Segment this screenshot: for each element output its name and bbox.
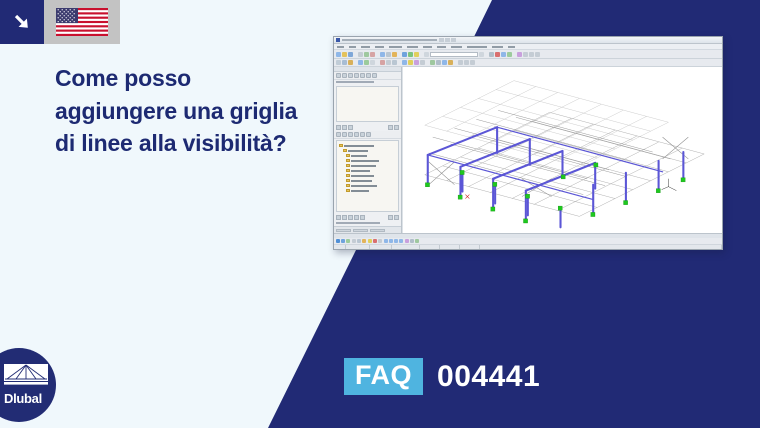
- loadcase-select[interactable]: [430, 52, 478, 57]
- model-canvas[interactable]: [402, 67, 722, 233]
- table-header-row: [334, 245, 722, 250]
- toolbar-undo-icon[interactable]: [364, 52, 369, 57]
- list-item[interactable]: [339, 188, 396, 193]
- treebtn-help[interactable]: [394, 215, 399, 220]
- tool2-surface-icon[interactable]: [358, 60, 363, 65]
- toolbar-render-icon[interactable]: [408, 52, 413, 57]
- tool2-clip-icon[interactable]: [436, 60, 441, 65]
- tbl-icon-lines[interactable]: [341, 239, 345, 243]
- treebtn-copy[interactable]: [354, 215, 359, 220]
- toolbar-view-xz-icon[interactable]: [529, 52, 534, 57]
- navigator-upper-pane[interactable]: [336, 86, 399, 122]
- tool2-pan-icon[interactable]: [458, 60, 463, 65]
- menu-item-edit[interactable]: [349, 46, 356, 48]
- faq-tag: FAQ: [344, 358, 423, 395]
- tree-icon-model[interactable]: [342, 132, 347, 137]
- tbl-icon-copy[interactable]: [357, 239, 361, 243]
- nav-icon-results[interactable]: [354, 73, 359, 78]
- navigator-tab-views[interactable]: [370, 229, 385, 232]
- tool2-support-icon[interactable]: [370, 60, 375, 65]
- tool2-solid-icon[interactable]: [364, 60, 369, 65]
- app-title-text: [342, 39, 437, 41]
- flag-usa-icon[interactable]: [44, 0, 120, 44]
- nav-icon-display[interactable]: [342, 73, 347, 78]
- treebtn-open[interactable]: [342, 215, 347, 220]
- col-node-type: [346, 245, 370, 250]
- navigator-tab-display[interactable]: [353, 229, 368, 232]
- table-grid[interactable]: [334, 245, 722, 250]
- folder-icon: [346, 184, 350, 187]
- treebtn-save[interactable]: [348, 215, 353, 220]
- faq-badge-row: FAQ 004441: [344, 358, 540, 395]
- menu-item-calculate[interactable]: [389, 46, 402, 48]
- navigator-tab-data[interactable]: [336, 229, 351, 232]
- tool2-zoomwin-icon[interactable]: [470, 60, 475, 65]
- tree-icon-results2[interactable]: [354, 132, 359, 137]
- tbl-icon-highlight[interactable]: [368, 239, 372, 243]
- tbl-icon-settings[interactable]: [405, 239, 409, 243]
- tool2-ortho-icon[interactable]: [392, 60, 397, 65]
- folder-icon: [343, 149, 347, 152]
- navigator-tabs[interactable]: [334, 226, 401, 233]
- structural-model-3d: [403, 67, 722, 233]
- nodal-supports: [425, 163, 685, 223]
- menu-item-tools[interactable]: [423, 46, 432, 48]
- tool2-info-icon[interactable]: [448, 60, 453, 65]
- tool2-measure-icon[interactable]: [442, 60, 447, 65]
- nav-btn-down[interactable]: [394, 125, 399, 130]
- toolbar-copy-icon[interactable]: [386, 52, 391, 57]
- col-coordinate-system: [392, 245, 420, 250]
- origin-marker: [465, 195, 469, 199]
- toolbar-save-icon[interactable]: [348, 52, 353, 57]
- app-toolbar-primary[interactable]: [334, 50, 722, 59]
- table-panel[interactable]: [334, 233, 722, 250]
- folder-icon: [346, 174, 350, 177]
- tbl-icon-delete[interactable]: [373, 239, 377, 243]
- dlubal-logo[interactable]: Dlubal: [0, 348, 56, 422]
- menu-item-file[interactable]: [337, 46, 344, 48]
- app-icon: [336, 38, 340, 42]
- minimize-icon[interactable]: [439, 38, 444, 42]
- navigator-tree-buttons[interactable]: [334, 213, 401, 221]
- app-workarea: [334, 67, 722, 233]
- toolbar-new-icon[interactable]: [336, 52, 341, 57]
- tool2-dimension-icon[interactable]: [402, 60, 407, 65]
- tool2-section-icon[interactable]: [430, 60, 435, 65]
- toolbar-forces-icon[interactable]: [507, 52, 512, 57]
- tbl-icon-print[interactable]: [415, 239, 419, 243]
- nav-icon-expand[interactable]: [372, 73, 377, 78]
- logo-wordmark: Dlubal: [4, 392, 50, 405]
- nav-btn-delete[interactable]: [348, 125, 353, 130]
- tool2-line-icon[interactable]: [342, 60, 347, 65]
- tree-icon-print[interactable]: [360, 132, 365, 137]
- tbl-icon-filter[interactable]: [378, 239, 382, 243]
- tbl-icon-export[interactable]: [410, 239, 414, 243]
- menu-item-help[interactable]: [508, 46, 515, 48]
- toolbar-select-icon[interactable]: [424, 52, 429, 57]
- folder-icon: [346, 159, 350, 162]
- close-icon[interactable]: [451, 38, 456, 42]
- tool2-snap-icon[interactable]: [386, 60, 391, 65]
- slide-canvas: Come posso aggiungere una griglia di lin…: [0, 0, 760, 428]
- navigator-tree[interactable]: [336, 140, 399, 212]
- toolbar-deform-icon[interactable]: [501, 52, 506, 57]
- app-titlebar: [334, 37, 722, 44]
- treebtn-info[interactable]: [388, 215, 393, 220]
- navigator-hint: [334, 80, 401, 85]
- tool2-visibility-icon[interactable]: [420, 60, 425, 65]
- tool2-member-icon[interactable]: [348, 60, 353, 65]
- tbl-icon-next[interactable]: [394, 239, 398, 243]
- toolbar-zoom-icon[interactable]: [402, 52, 407, 57]
- tbl-icon-members[interactable]: [346, 239, 350, 243]
- window-controls[interactable]: [439, 38, 456, 42]
- menu-item-results[interactable]: [407, 46, 418, 48]
- folder-icon: [346, 169, 350, 172]
- menu-item-table[interactable]: [437, 46, 446, 48]
- folder-icon: [346, 189, 350, 192]
- folder-icon: [346, 154, 350, 157]
- app-toolbar-secondary[interactable]: [334, 59, 722, 67]
- menu-item-insert[interactable]: [375, 46, 384, 48]
- table-panel-toolbar[interactable]: [334, 238, 722, 245]
- menu-item-addon-modules[interactable]: [467, 46, 487, 48]
- faq-number: 004441: [437, 362, 540, 392]
- nav-icon-refresh[interactable]: [366, 73, 371, 78]
- col-reference-node: [370, 245, 392, 250]
- tool2-text-icon[interactable]: [408, 60, 413, 65]
- treebtn-del[interactable]: [360, 215, 365, 220]
- tree-icon-settings[interactable]: [366, 132, 371, 137]
- col-x: [420, 245, 440, 250]
- dlubal-frame-icon: [4, 362, 48, 390]
- menu-item-window[interactable]: [492, 46, 503, 48]
- language-chip[interactable]: [0, 0, 120, 44]
- tree-icon-loads[interactable]: [348, 132, 353, 137]
- toolbar-calc-icon[interactable]: [489, 52, 494, 57]
- tbl-icon-cut[interactable]: [352, 239, 356, 243]
- col-node-no: [334, 245, 346, 250]
- toolbar-view-yz-icon[interactable]: [535, 52, 540, 57]
- toolbar-open-icon[interactable]: [342, 52, 347, 57]
- coordinate-axes: [662, 179, 677, 191]
- folder-icon: [346, 164, 350, 167]
- menu-item-options[interactable]: [451, 46, 462, 48]
- app-window-screenshot: [333, 36, 723, 250]
- maximize-icon[interactable]: [445, 38, 450, 42]
- nav-icon-data[interactable]: [336, 73, 341, 78]
- tool2-rotate-icon[interactable]: [464, 60, 469, 65]
- toolbar-redo-icon[interactable]: [370, 52, 375, 57]
- tbl-icon-paste[interactable]: [362, 239, 366, 243]
- col-z: [460, 245, 480, 250]
- page-title: Come posso aggiungere una griglia di lin…: [55, 62, 305, 160]
- treebtn-new[interactable]: [336, 215, 341, 220]
- nav-icon-filter[interactable]: [360, 73, 365, 78]
- project-navigator[interactable]: [334, 67, 402, 233]
- nav-btn-up[interactable]: [388, 125, 393, 130]
- folder-icon: [346, 179, 350, 182]
- col-y: [440, 245, 460, 250]
- toolbar-view-iso-icon[interactable]: [517, 52, 522, 57]
- navigator-upper-buttons[interactable]: [334, 123, 401, 131]
- menu-item-view[interactable]: [361, 46, 370, 48]
- tool2-node-icon[interactable]: [336, 60, 341, 65]
- navigator-tree-toolbar[interactable]: [334, 131, 401, 139]
- tbl-icon-first[interactable]: [384, 239, 388, 243]
- folder-icon: [339, 144, 343, 147]
- navigator-toolbar[interactable]: [334, 72, 401, 80]
- col-comment: [480, 245, 722, 250]
- tbl-icon-prev[interactable]: [389, 239, 393, 243]
- portal-frames: [428, 127, 684, 227]
- nav-btn-edit[interactable]: [342, 125, 347, 130]
- toolbar-view-xy-icon[interactable]: [523, 52, 528, 57]
- toolbar-results-icon[interactable]: [495, 52, 500, 57]
- tool2-layer-icon[interactable]: [414, 60, 419, 65]
- toolbar-paste-icon[interactable]: [392, 52, 397, 57]
- nav-icon-views[interactable]: [348, 73, 353, 78]
- nav-btn-add[interactable]: [336, 125, 341, 130]
- tbl-icon-last[interactable]: [399, 239, 403, 243]
- arrow-down-right-icon[interactable]: [0, 0, 44, 44]
- toolbar-print-icon[interactable]: [358, 52, 363, 57]
- loadcase-dropdown-icon[interactable]: [479, 52, 484, 57]
- toolbar-grid-icon[interactable]: [414, 52, 419, 57]
- toolbar-cut-icon[interactable]: [380, 52, 385, 57]
- tree-icon-all[interactable]: [336, 132, 341, 137]
- line-grid-roof: [425, 81, 669, 167]
- tool2-load-icon[interactable]: [380, 60, 385, 65]
- tbl-icon-nodes[interactable]: [336, 239, 340, 243]
